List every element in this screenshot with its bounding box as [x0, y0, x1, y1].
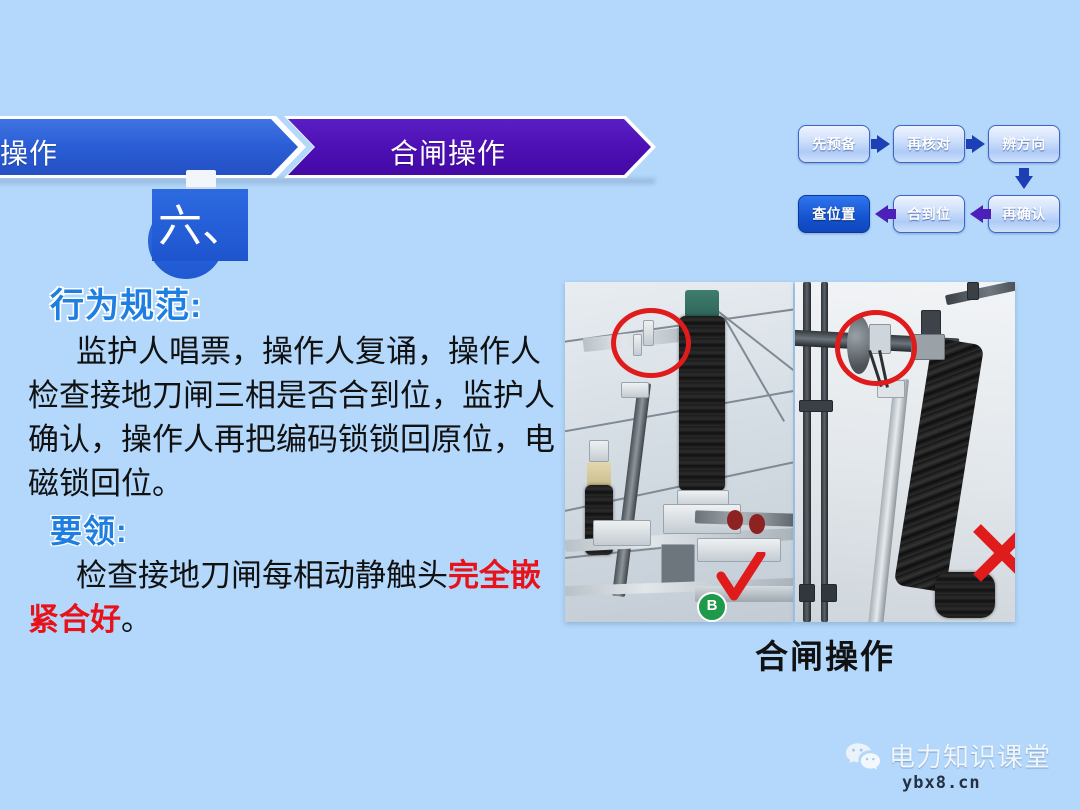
arrow-left-1-icon [970, 205, 983, 223]
small-insulator-band [587, 462, 611, 486]
tower-brace [799, 400, 833, 412]
incorrect-closing-photo [795, 282, 1015, 622]
rod-joint [621, 382, 649, 398]
ribbon-segment-1-label: 动式操作机构接地刀闸操作 [0, 132, 58, 172]
arrow-left-2-icon [875, 205, 888, 223]
ribbon-shadow [0, 178, 655, 184]
flow-step-5[interactable]: 合到位 [893, 195, 965, 233]
switch-mechanism [593, 520, 651, 546]
photo-caption: 合闸操作 [700, 630, 950, 678]
insulator-cap [685, 290, 719, 318]
tower-fitting [799, 584, 815, 602]
section-ribbon-banner: 动式操作机构接地刀闸操作 合闸操作 [0, 116, 660, 178]
key-points-paragraph: 检查接地刀闸每相动静触头完全嵌紧合好。 [28, 554, 558, 642]
contact-terminal [727, 510, 743, 530]
behavior-norm-heading: 行为规范: [50, 284, 558, 328]
red-x-icon [971, 522, 1015, 584]
key-points-text-plain: 检查接地刀闸每相动静触头 [76, 558, 448, 593]
procedure-flowchart: 先预备 再核对 辨方向 查位置 合到位 再确认 [790, 122, 1072, 240]
arrow-down-icon [1015, 176, 1033, 189]
cross-arm-fitting [967, 282, 979, 300]
tower-fitting [821, 584, 837, 602]
red-check-icon [715, 552, 767, 604]
flow-step-4[interactable]: 再确认 [988, 195, 1060, 233]
arrow-left-1-stem [983, 209, 991, 219]
section-number-label: 六、 [158, 196, 254, 258]
flow-step-6-active[interactable]: 查位置 [798, 195, 870, 233]
key-points-text-tail: 。 [121, 602, 152, 637]
slide-canvas: 动式操作机构接地刀闸操作 合闸操作 六、 先预备 再核对 辨方向 查位置 合到位… [0, 0, 1080, 810]
watermark-account-name: 电力知识课堂 [889, 737, 1051, 774]
watermark-url: ybx8.cn [902, 773, 981, 793]
small-insulator-cap [589, 440, 609, 462]
correct-closing-photo: B [565, 282, 793, 622]
flow-step-1[interactable]: 先预备 [798, 125, 870, 163]
arrow-right-2-icon [972, 135, 985, 153]
arrow-left-2-stem [888, 209, 896, 219]
arrow-right-1-icon [877, 135, 890, 153]
flow-step-3[interactable]: 辨方向 [988, 125, 1060, 163]
content-text-column: 行为规范: 监护人唱票，操作人复诵，操作人检查接地刀闸三相是否合到位，监护人确认… [28, 284, 558, 642]
watermark: 电力知识课堂 [845, 737, 1051, 774]
red-circle-annotation [835, 310, 917, 386]
key-points-heading: 要领: [50, 510, 558, 552]
switch-box [661, 544, 695, 586]
flow-step-2[interactable]: 再核对 [893, 125, 965, 163]
contact-terminal [749, 514, 765, 534]
red-circle-annotation [611, 308, 691, 378]
behavior-norm-paragraph: 监护人唱票，操作人复诵，操作人检查接地刀闸三相是否合到位，监护人确认，操作人再把… [28, 330, 558, 506]
ribbon-segment-2-label: 合闸操作 [390, 132, 506, 172]
badge-tab-shape [186, 170, 216, 190]
wechat-icon [845, 741, 881, 771]
